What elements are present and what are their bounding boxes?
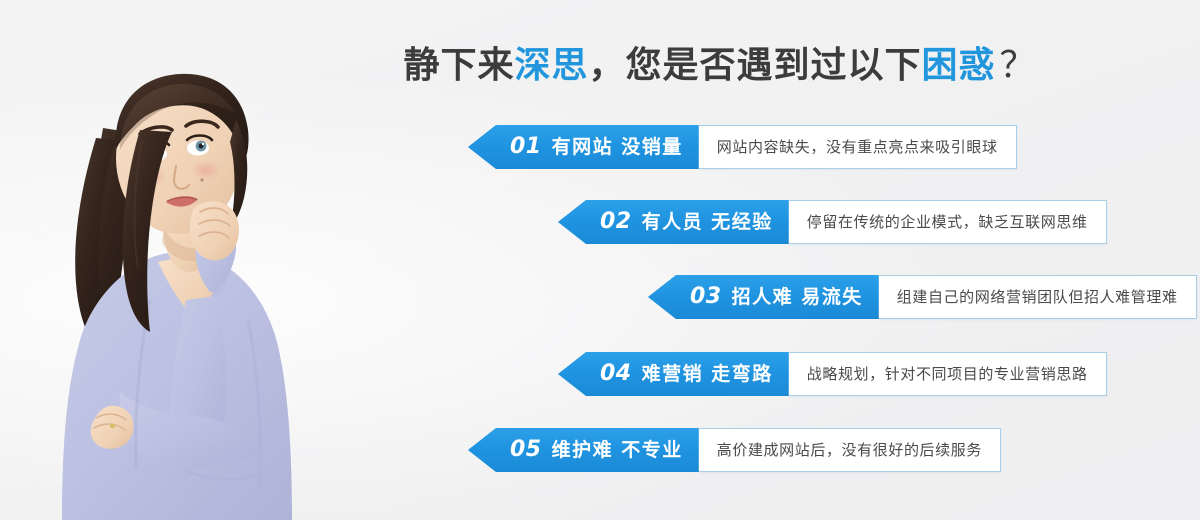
item-desc-label: 网站内容缺失，没有重点亮点来吸引眼球: [717, 140, 998, 155]
item-desc-03: 组建自己的网络营销团队但招人难管理难: [879, 275, 1197, 319]
item-tag-05: 05 维护难 不专业: [468, 428, 699, 472]
item-number: 04: [600, 363, 632, 385]
item-tag-label: 维护难 不专业: [552, 441, 683, 460]
thoughtful-woman-photo: [0, 0, 360, 520]
item-tag-01: 01 有网站 没销量: [468, 125, 699, 169]
item-number: 02: [600, 211, 632, 233]
list-item[interactable]: 01 有网站 没销量 网站内容缺失，没有重点亮点来吸引眼球: [468, 125, 1017, 169]
item-desc-label: 停留在传统的企业模式，缺乏互联网思维: [807, 215, 1088, 230]
item-tag-label: 有网站 没销量: [552, 138, 683, 157]
item-desc-label: 战略规划，针对不同项目的专业营销思路: [807, 367, 1088, 382]
headline-highlight1: 深思: [514, 40, 588, 92]
item-tag-04: 04 难营销 走弯路: [558, 352, 789, 396]
item-tag-label: 难营销 走弯路: [642, 365, 773, 384]
page-title: 静下来深思，您是否遇到过以下困惑？: [380, 40, 1060, 92]
list-item[interactable]: 05 维护难 不专业 高价建成网站后，没有很好的后续服务: [468, 428, 1001, 472]
item-desc-05: 高价建成网站后，没有很好的后续服务: [699, 428, 1001, 472]
list-item[interactable]: 04 难营销 走弯路 战略规划，针对不同项目的专业营销思路: [558, 352, 1107, 396]
item-desc-04: 战略规划，针对不同项目的专业营销思路: [789, 352, 1107, 396]
item-number: 01: [510, 136, 542, 158]
promo-banner: 静下来深思，您是否遇到过以下困惑？ 01 有网站 没销量 网站内容缺失，没有重点…: [0, 0, 1200, 520]
item-tag-02: 02 有人员 无经验: [558, 200, 789, 244]
item-desc-label: 高价建成网站后，没有很好的后续服务: [717, 443, 982, 458]
headline-question-mark: ？: [996, 40, 1037, 92]
item-number: 05: [510, 439, 542, 461]
item-number: 03: [690, 286, 722, 308]
item-desc-02: 停留在传统的企业模式，缺乏互联网思维: [789, 200, 1107, 244]
list-item[interactable]: 02 有人员 无经验 停留在传统的企业模式，缺乏互联网思维: [558, 200, 1107, 244]
headline-part1: 静下来: [403, 40, 514, 92]
item-tag-label: 招人难 易流失: [732, 288, 863, 307]
item-tag-03: 03 招人难 易流失: [648, 275, 879, 319]
item-tag-label: 有人员 无经验: [642, 213, 773, 232]
item-desc-label: 组建自己的网络营销团队但招人难管理难: [897, 290, 1178, 305]
item-desc-01: 网站内容缺失，没有重点亮点来吸引眼球: [699, 125, 1017, 169]
list-item[interactable]: 03 招人难 易流失 组建自己的网络营销团队但招人难管理难: [648, 275, 1197, 319]
headline-part2: ，您是否遇到过以下: [588, 40, 921, 92]
headline-highlight2: 困惑: [922, 40, 996, 92]
